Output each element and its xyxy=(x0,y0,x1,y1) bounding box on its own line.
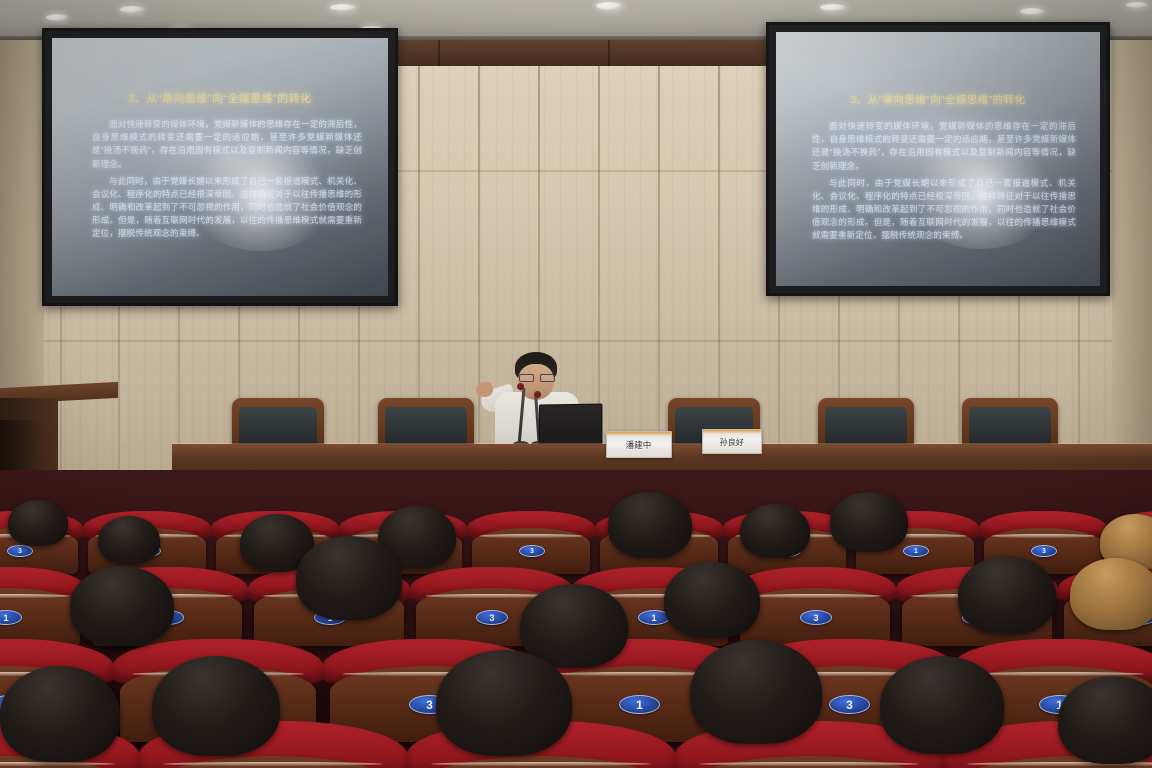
nameplate-1: 潘建中 xyxy=(606,431,672,458)
nameplate-2: 孙良好 xyxy=(702,429,762,454)
audience-member-head xyxy=(70,566,174,646)
right-screen-surface: 3、从“单向思维”向“全媒思维”的转化 面对快速转变的媒体环境，党媒新媒体的思维… xyxy=(776,32,1100,286)
wall-right-return xyxy=(1112,40,1152,470)
lecture-hall-photo: 3、从“单向思维”向“全媒思维”的转化 面对快速转变的媒体环境，党媒新媒体的思维… xyxy=(0,0,1152,768)
chair-cushion xyxy=(825,407,907,446)
seat-number-badge: 3 xyxy=(829,695,870,714)
audience-seat xyxy=(148,756,398,768)
microphone-head-2 xyxy=(534,391,541,398)
seat-chrome-trim xyxy=(749,594,881,598)
audience-member-head xyxy=(740,504,810,558)
seat-number-badge: 3 xyxy=(519,545,545,557)
chair-cushion xyxy=(385,407,467,446)
audience-seat: 1 xyxy=(0,588,80,646)
seat-chrome-trim xyxy=(163,762,383,766)
slide-paragraph-2-left: 与此同时，由于党媒长期以来形成了自己一套报道模式、机关化、会议化、程序化的特点已… xyxy=(92,175,362,241)
audience-member-head xyxy=(8,500,68,546)
downlight-9 xyxy=(1020,8,1044,15)
nameplate-1-label: 潘建中 xyxy=(626,438,652,450)
nameplate-2-label: 孙良好 xyxy=(720,436,744,447)
wall-seam-8 xyxy=(478,40,480,470)
microphone-head-1 xyxy=(517,383,524,390)
downlight-6 xyxy=(596,2,622,10)
seat-number-badge: 3 xyxy=(1031,545,1057,557)
audience-member-head xyxy=(608,492,692,558)
audience-seat: 3 xyxy=(740,588,890,646)
audience-member-head xyxy=(690,640,822,744)
seat-number-badge: 3 xyxy=(476,610,508,625)
audience-member-head xyxy=(830,492,908,552)
downlight-7 xyxy=(820,4,846,11)
slide-paragraph-1-left: 面对快速转变的媒体环境，党媒新媒体的思维存在一定的滞后性，自身思维模式的转变还需… xyxy=(92,118,362,171)
seat-chrome-trim xyxy=(479,534,583,538)
seat-chrome-trim xyxy=(699,762,919,766)
downlight-11 xyxy=(1126,2,1148,8)
chair-cushion xyxy=(969,407,1051,446)
audience-member-head xyxy=(152,656,280,756)
slide-body-left: 面对快速转变的媒体环境，党媒新媒体的思维存在一定的滞后性，自身思维模式的转变还需… xyxy=(92,118,362,244)
laptop-screen[interactable] xyxy=(539,404,603,449)
seat-number-badge: 3 xyxy=(800,610,832,625)
seat-number-badge: 1 xyxy=(903,545,929,557)
left-screen-surface: 3、从“单向思维”向“全媒思维”的转化 面对快速转变的媒体环境，党媒新媒体的思维… xyxy=(52,38,388,296)
audience-member-head xyxy=(1058,676,1152,764)
audience-member-head xyxy=(880,656,1004,754)
seat-chrome-trim xyxy=(991,534,1095,538)
audience-member-head xyxy=(958,556,1056,634)
audience-seat xyxy=(684,756,934,768)
audience-member-head xyxy=(1070,558,1152,630)
downlight-4 xyxy=(330,4,356,11)
seat-number-badge: 3 xyxy=(7,545,33,557)
right-projection-screen[interactable]: 3、从“单向思维”向“全媒思维”的转化 面对快速转变的媒体环境，党媒新媒体的思维… xyxy=(766,22,1110,296)
seat-chrome-trim xyxy=(431,762,651,766)
slide-paragraph-1-right: 面对快速转变的媒体环境，党媒新媒体的思维存在一定的滞后性，自身思维模式的转变还需… xyxy=(812,120,1076,173)
slide-title-right: 3、从“单向思维”向“全媒思维”的转化 xyxy=(776,92,1100,107)
audience-seating-area: 3131313133131313133131313 xyxy=(0,470,1152,768)
slide-paragraph-2-right: 与此同时，由于党媒长期以来形成了自己一套报道模式、机关化、会议化、程序化的特点已… xyxy=(812,177,1076,243)
audience-member-head xyxy=(0,666,120,762)
left-projection-screen[interactable]: 3、从“单向思维”向“全媒思维”的转化 面对快速转变的媒体环境，党媒新媒体的思维… xyxy=(42,28,398,306)
audience-member-head xyxy=(98,516,160,564)
downlight-2 xyxy=(120,6,144,13)
slide-title-left: 3、从“单向思维”向“全媒思维”的转化 xyxy=(52,90,388,106)
audience-seat xyxy=(416,756,666,768)
audience-member-head xyxy=(436,650,572,756)
chair-cushion xyxy=(239,407,317,446)
audience-member-head xyxy=(664,562,760,638)
seat-number-badge: 1 xyxy=(619,695,660,714)
slide-body-right: 面对快速转变的媒体环境，党媒新媒体的思维存在一定的滞后性，自身思维模式的转变还需… xyxy=(812,120,1076,246)
downlight-1 xyxy=(46,14,68,21)
audience-member-head xyxy=(296,536,402,620)
wall-seam-11 xyxy=(658,40,660,470)
speaker-glasses-icon xyxy=(519,374,553,380)
